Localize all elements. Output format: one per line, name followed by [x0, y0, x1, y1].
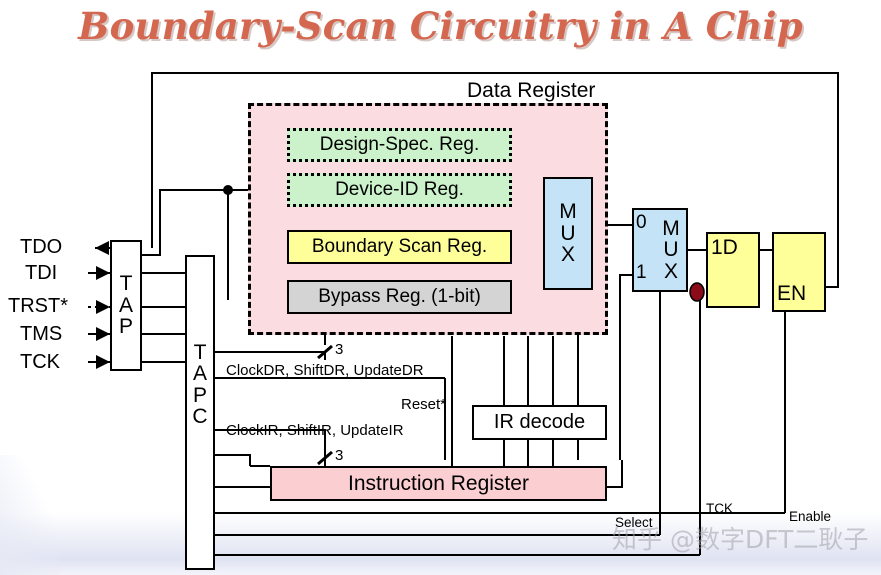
data-register-label: Data Register — [467, 79, 595, 103]
tapc-letter-3: C — [192, 406, 207, 427]
mux2-letter-0: M — [662, 218, 680, 239]
tapc-letter-0: T — [194, 342, 207, 363]
ir-bus-width-label: 3 — [335, 447, 343, 464]
port-label-tdi: TDI — [25, 262, 57, 285]
inverting-bubble-icon — [690, 283, 704, 301]
ir-controls-label: ClockIR, ShiftIR, UpdateIR — [226, 422, 404, 439]
flipflop-label: 1D — [711, 236, 738, 260]
dr-bus-width-label: 3 — [335, 341, 343, 358]
port-label-tdo: TDO — [20, 236, 62, 259]
dr-controls-label: ClockDR, ShiftDR, UpdateDR — [226, 362, 424, 379]
enable-buffer-block[interactable]: EN — [772, 232, 826, 312]
tapc-block[interactable]: T A P C — [185, 255, 215, 570]
port-label-trst: TRST* — [8, 295, 68, 318]
tap-letter-1: A — [119, 295, 133, 316]
port-label-tms: TMS — [20, 323, 62, 346]
mux1-letter-2: X — [561, 244, 575, 265]
instruction-register-block[interactable]: Instruction Register — [270, 466, 607, 501]
tap-letter-0: T — [120, 273, 133, 294]
mux2-input-0-label: 0 — [636, 212, 647, 234]
mux2-letter-1: U — [663, 239, 678, 260]
device-id-reg-block[interactable]: Device-ID Reg. — [287, 173, 512, 207]
enable-buffer-label: EN — [777, 282, 806, 306]
ir-decode-block[interactable]: IR decode — [472, 405, 607, 440]
tap-block[interactable]: T A P — [110, 240, 142, 371]
mux1-letter-0: M — [559, 201, 577, 222]
mux1-letter-1: U — [560, 223, 575, 244]
tapc-letter-1: A — [193, 363, 207, 384]
tap-letter-2: P — [119, 316, 133, 337]
mux1-block[interactable]: M U X — [543, 177, 593, 290]
mux2-input-1-label: 1 — [636, 262, 647, 284]
tapc-letter-2: P — [193, 385, 207, 406]
output-flipflop-block[interactable]: 1D — [706, 232, 760, 308]
bypass-reg-block[interactable]: Bypass Reg. (1-bit) — [287, 280, 512, 314]
port-label-tck: TCK — [20, 351, 60, 374]
watermark: 知乎 @数字DFT二耿子 — [612, 520, 868, 556]
design-spec-reg-block[interactable]: Design-Spec. Reg. — [287, 128, 512, 162]
tck-signal-label: TCK — [706, 501, 733, 516]
boundary-scan-reg-block[interactable]: Boundary Scan Reg. — [287, 230, 512, 264]
mux2-letter-2: X — [664, 261, 678, 282]
diagram-canvas: Boundary-Scan Circuitry in A Chip — [0, 0, 881, 575]
reset-label: Reset* — [401, 396, 446, 413]
arrow-heads — [95, 241, 110, 369]
